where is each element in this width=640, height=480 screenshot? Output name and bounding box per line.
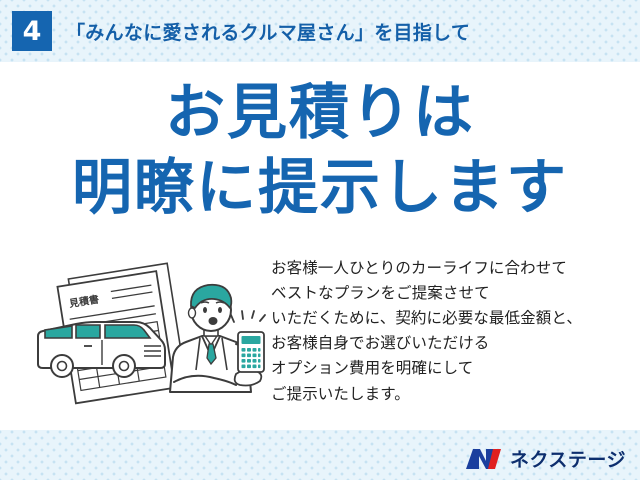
headline: お見積りは 明瞭に提示します [0,78,640,224]
brand-wordmark: ネクステージ [510,445,626,472]
header-bar: 4 「みんなに愛されるクルマ屋さん」を目指して [0,0,640,62]
body-copy-line-4: お客様自身でお選びいただける [271,331,637,356]
body-copy: お客様一人ひとりのカーライフに合わせて ベストなプランをご提案させて いただくた… [271,256,637,407]
nextage-n-logo-icon [465,447,503,471]
content-panel: お見積りは 明瞭に提示します お客様一人ひとりのカーライフに合わせて ベストなプ… [0,62,640,430]
body-copy-line-6: ご提示いたします。 [271,382,637,407]
van-icon [38,322,165,377]
calculator-icon [238,332,264,372]
illustration-salesman-estimate: 見積書 [24,252,272,422]
sparkle-icon [231,311,265,322]
promo-slide: 4 「みんなに愛されるクルマ屋さん」を目指して お見積りは 明瞭に提示します お… [0,0,640,480]
body-copy-line-3: いただくために、契約に必要な最低金額と、 [271,306,637,331]
body-copy-line-5: オプション費用を明確にして [271,356,637,381]
brand-logo: ネクステージ [465,445,626,472]
header-title: 「みんなに愛されるクルマ屋さん」を目指して [66,18,470,45]
body-copy-line-1: お客様一人ひとりのカーライフに合わせて [271,256,637,281]
step-number-badge: 4 [12,11,52,51]
illustration-svg: 見積書 [24,252,272,422]
headline-line-2: 明瞭に提示します [0,153,640,224]
body-copy-line-2: ベストなプランをご提案させて [271,281,637,306]
headline-line-1: お見積りは [0,78,640,149]
